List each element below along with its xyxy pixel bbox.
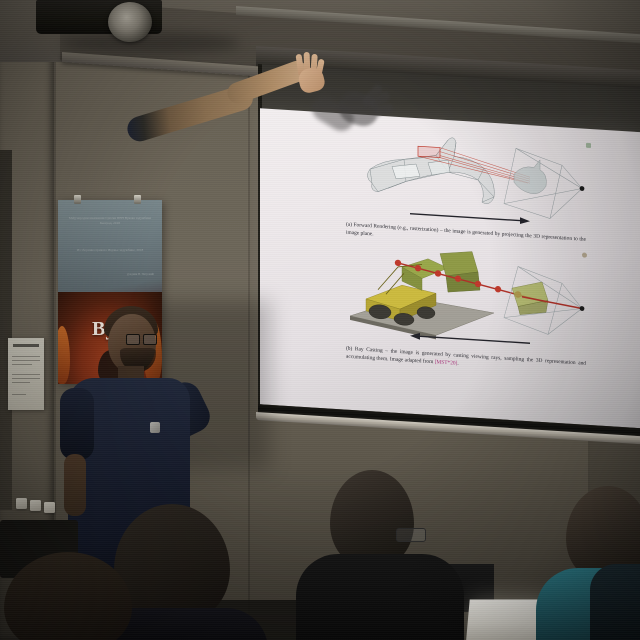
poster-text-block-3: уредник В. Петровић — [102, 272, 154, 277]
eyeglasses-icon — [126, 334, 157, 343]
projector-lens-icon — [108, 2, 152, 42]
figure-a-arrow-line — [410, 214, 520, 221]
slide-marker-tan-icon — [582, 253, 587, 258]
shirt-logo-icon — [150, 422, 160, 433]
presenter-left-sleeve — [60, 388, 94, 460]
audience-head — [330, 470, 414, 566]
figure-b-arrow-line — [420, 336, 530, 343]
audience-torso — [590, 564, 640, 640]
figure-b-citation[interactable]: [MST*20] — [435, 359, 458, 366]
figure-b-caption-end: . — [457, 360, 458, 366]
projected-slide: (a) Forward Rendering (e.g., rasterizati… — [260, 108, 640, 428]
poster-text-block-2: Из зборника приказа Издање задужбине, 20… — [68, 248, 152, 253]
presenter-pointing-hand — [295, 52, 329, 92]
poster-text-block-1: Међународни књижевни Српски ПЕН Вукова з… — [68, 216, 152, 227]
projector-shadow — [60, 32, 240, 54]
audience-member-right-edge — [590, 564, 640, 640]
poster-clip-right — [134, 195, 141, 204]
presenter-left-arm — [64, 454, 86, 516]
notice-heading — [13, 344, 39, 347]
notice-line — [12, 374, 40, 375]
wall-notice-paper — [8, 338, 44, 410]
eye-point-dot — [580, 306, 585, 311]
lecture-hall-scene: (a) Forward Rendering (e.g., rasterizati… — [0, 0, 640, 640]
notice-line — [12, 394, 26, 395]
notice-line — [12, 378, 40, 379]
audience-member-front-left — [0, 552, 150, 640]
slide-marker-green-icon — [586, 143, 591, 148]
figure-a-arrow-head — [520, 217, 530, 224]
notice-line — [12, 382, 30, 383]
wall-outlet-2 — [30, 500, 41, 511]
notice-line — [12, 360, 40, 361]
figure-b-ray-casting — [344, 242, 594, 354]
wall-outlet-1 — [16, 498, 27, 509]
source-quad-highlight — [418, 146, 440, 157]
notice-line — [12, 356, 40, 357]
poster-clip-left — [74, 195, 81, 204]
notice-line — [12, 364, 32, 365]
screen-surface: (a) Forward Rendering (e.g., rasterizati… — [260, 108, 640, 428]
left-wall-dark-strip — [0, 150, 12, 510]
ray-casting-svg — [344, 242, 594, 354]
audience-head — [4, 552, 132, 640]
audience-torso — [296, 554, 464, 640]
audience-member-black-shirt — [296, 470, 464, 640]
audience-eyeglasses-icon — [396, 528, 426, 542]
